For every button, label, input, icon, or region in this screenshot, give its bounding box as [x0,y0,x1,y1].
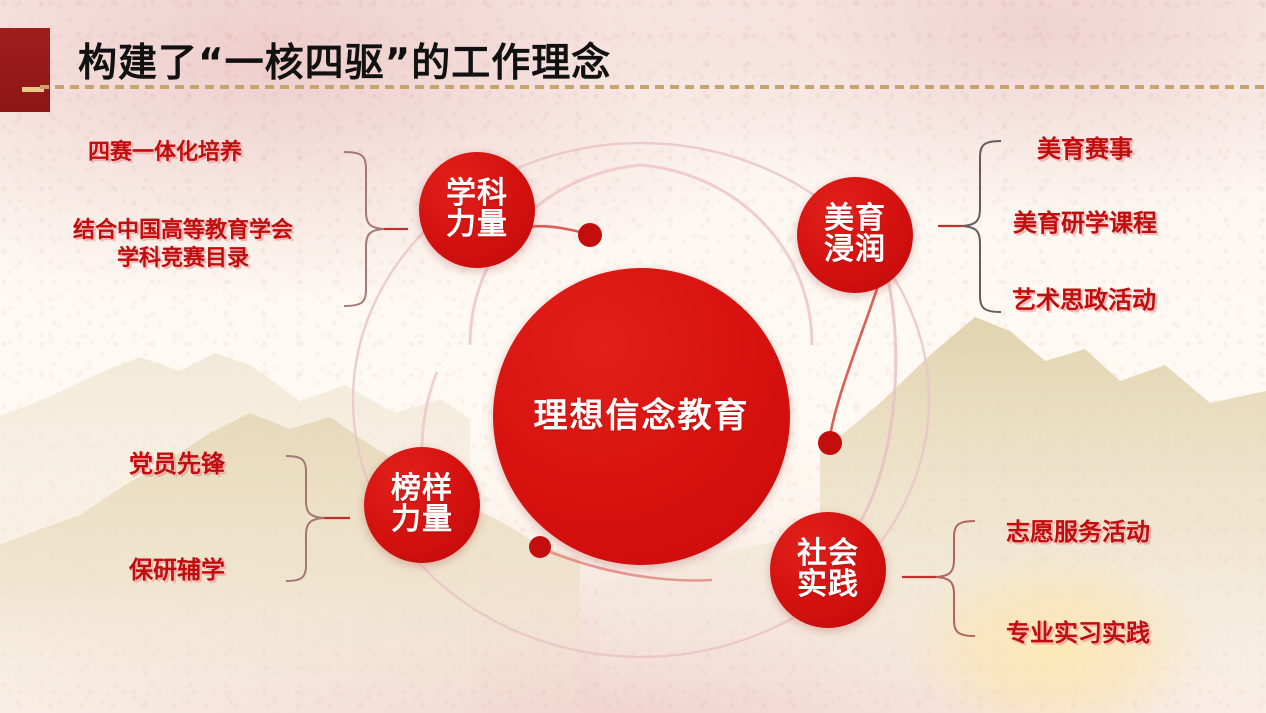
node-discipline-power-line1: 学科 [446,179,508,210]
branch-label-top-right-2: 美育研学课程 [1013,208,1157,239]
orbit-dot [578,223,602,247]
orbit-dot [818,431,842,455]
node-role-model-power[interactable]: 榜样 力量 [364,447,480,563]
node-aesthetic-education[interactable]: 美育 浸润 [797,177,913,293]
branch-label-top-right-3: 艺术思政活动 [1012,285,1156,316]
branch-label-bottom-right-1: 志愿服务活动 [1006,517,1150,548]
branch-label-bottom-right-2: 专业实习实践 [1006,618,1150,649]
node-aesthetic-education-line1: 美育 [824,204,886,235]
center-core[interactable]: 理想信念教育 [493,268,790,565]
node-role-model-power-line1: 榜样 [391,474,453,505]
branch-label-bottom-left-2: 保研辅学 [129,555,225,586]
node-social-practice[interactable]: 社会 实践 [770,512,886,628]
slide-canvas: 构建了“一核四驱”的工作理念 理想信念教育 [0,0,1266,713]
branch-label-bottom-left-1: 党员先锋 [129,449,225,480]
node-discipline-power[interactable]: 学科 力量 [419,152,535,268]
orbit-dot [529,536,551,558]
node-aesthetic-education-line2: 浸润 [824,235,886,266]
branch-label-top-left-2: 结合中国高等教育学会 学科竞赛目录 [23,217,343,273]
node-role-model-power-line2: 力量 [391,505,453,536]
node-discipline-power-line2: 力量 [446,210,508,241]
center-core-label: 理想信念教育 [534,399,750,434]
branch-label-top-left-2-line1: 结合中国高等教育学会 [23,217,343,245]
branch-label-top-right-1: 美育赛事 [1037,134,1133,165]
node-social-practice-line1: 社会 [797,539,859,570]
node-social-practice-line2: 实践 [797,570,859,601]
branch-label-top-left-2-line2: 学科竞赛目录 [23,245,343,273]
branch-label-top-left-1: 四赛一体化培养 [88,139,242,167]
